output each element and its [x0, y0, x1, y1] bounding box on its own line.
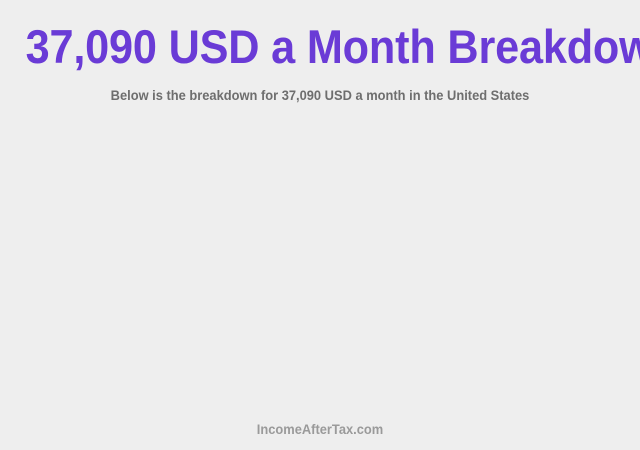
page-header: 37,090 USD a Month Breakdown Below is th…: [0, 0, 640, 104]
breakdown-content-area: [0, 104, 640, 420]
page-title: 37,090 USD a Month Breakdown: [26, 22, 615, 72]
page-footer: IncomeAfterTax.com: [0, 420, 640, 450]
footer-brand-label: IncomeAfterTax.com: [26, 420, 615, 438]
page-root: 37,090 USD a Month Breakdown Below is th…: [0, 0, 640, 450]
page-subtitle: Below is the breakdown for 37,090 USD a …: [26, 72, 615, 104]
